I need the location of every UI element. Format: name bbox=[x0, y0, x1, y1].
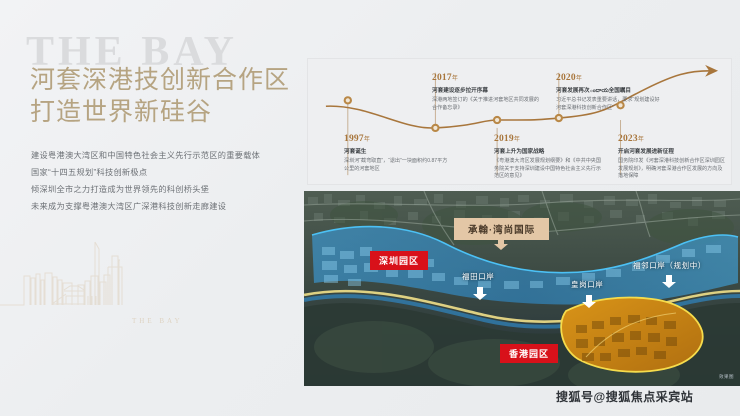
map-label-fulin-port: 福邻口岸（规划中） bbox=[633, 260, 706, 271]
timeline-year: 2017年 bbox=[432, 73, 540, 85]
left-panel: THE BAY 河套深港技创新合作区 打造世界新硅谷 建设粤港澳大湾区和中国特色… bbox=[0, 0, 302, 416]
map-tag-hongkong-park[interactable]: 香港园区 bbox=[500, 344, 558, 363]
page-title-line1: 河套深港技创新合作区 bbox=[30, 66, 290, 94]
right-column: 1997年 河套诞生 深圳河“截弯取直”，“退出”一块面积约0.87平方公里的河… bbox=[302, 0, 740, 416]
timeline-body: 《粤港澳大湾区发展规划纲要》和《中共中央国务院关于支持深圳建设中国特色社会主义先… bbox=[494, 158, 602, 181]
map-credit: 效果图 bbox=[719, 374, 734, 380]
slide-root: THE BAY 河套深港技创新合作区 打造世界新硅谷 建设粤港澳大湾区和中国特色… bbox=[0, 0, 740, 416]
page-title: 河套深港技创新合作区 打造世界新硅谷 bbox=[30, 64, 290, 128]
timeline-headline: 河套建设逐步拉开序幕 bbox=[432, 87, 540, 96]
timeline-body: 深港两地签订的《关于推进河套地区共同发展的合作备忘录》 bbox=[432, 97, 540, 112]
body-line-1: 建设粤港澳大湾区和中国特色社会主义先行示范区的重要载体 bbox=[31, 147, 281, 164]
timeline-body: 深圳河“截弯取直”，“退出”一块面积约0.87平方公里的河套地区 bbox=[344, 158, 452, 173]
body-copy: 建设粤港澳大湾区和中国特色社会主义先行示范区的重要载体 国家“十四五规划”科技创… bbox=[31, 147, 281, 215]
map-label-huanggang-port: 皇岗口岸 bbox=[571, 279, 603, 290]
timeline-year: 2019年 bbox=[494, 134, 602, 146]
project-arrow-icon bbox=[493, 237, 509, 251]
timeline-body: 国务院印发《河套深港科技创新合作区深圳园区发展规划》，明确河套深港合作区发展的方… bbox=[618, 158, 726, 181]
timeline-headline: 河套发展再次ందాయ全国瞩目 bbox=[556, 87, 664, 96]
timeline-item-2020: 2020年 河套发展再次ందాయ全国瞩目 习近平总书记发表重要讲话，要求“规划建… bbox=[556, 73, 664, 112]
map-tag-shenzhen-park[interactable]: 深圳园区 bbox=[370, 251, 428, 270]
timeline-year: 2023年 bbox=[618, 134, 726, 146]
skyline-brand-label: THE BAY bbox=[132, 317, 183, 325]
map-label-futian-port: 福田口岸 bbox=[462, 271, 494, 282]
skyline-graphic bbox=[0, 232, 200, 342]
body-line-3: 倾深圳全市之力打造成为世界领先的科创桥头堡 bbox=[31, 181, 281, 198]
futian-port-arrow-icon bbox=[472, 287, 488, 301]
timeline-year: 1997年 bbox=[344, 134, 452, 146]
page-title-line2: 打造世界新硅谷 bbox=[30, 96, 290, 128]
timeline-item-2019: 2019年 河套上升为国家战略 《粤港澳大湾区发展规划纲要》和《中共中央国务院关… bbox=[494, 134, 602, 181]
timeline-headline: 河套上升为国家战略 bbox=[494, 148, 602, 157]
timeline-item-2023: 2023年 开启河套发展进新征程 国务院印发《河套深港科技创新合作区深圳园区发展… bbox=[618, 134, 726, 181]
body-line-4: 未来成为支撑粤港澳大湾区广深港科技创新走廊建设 bbox=[31, 198, 281, 215]
timeline-year: 2020年 bbox=[556, 73, 664, 85]
timeline-body: 习近平总书记发表重要讲话，要求“规划建设好河套深港科技创新合作区” bbox=[556, 97, 664, 112]
fulin-port-arrow-icon bbox=[661, 275, 677, 289]
timeline-item-2017: 2017年 河套建设逐步拉开序幕 深港两地签订的《关于推进河套地区共同发展的合作… bbox=[432, 73, 540, 112]
watermark: 搜狐号@搜狐焦点采宾站 bbox=[556, 388, 693, 405]
huanggang-port-arrow-icon bbox=[581, 295, 597, 309]
body-line-2: 国家“十四五规划”科技创新极点 bbox=[31, 164, 281, 181]
timeline-headline: 开启河套发展进新征程 bbox=[618, 148, 726, 157]
timeline-item-1997: 1997年 河套诞生 深圳河“截弯取直”，“退出”一块面积约0.87平方公里的河… bbox=[344, 134, 452, 173]
aerial-map: 承翰·湾尚国际 深圳园区 香港园区 福田口岸 皇岗口岸 福邻口岸（规划中） 效果… bbox=[304, 191, 740, 386]
timeline-card: 1997年 河套诞生 深圳河“截弯取直”，“退出”一块面积约0.87平方公里的河… bbox=[307, 58, 732, 185]
timeline-headline: 河套诞生 bbox=[344, 148, 452, 157]
